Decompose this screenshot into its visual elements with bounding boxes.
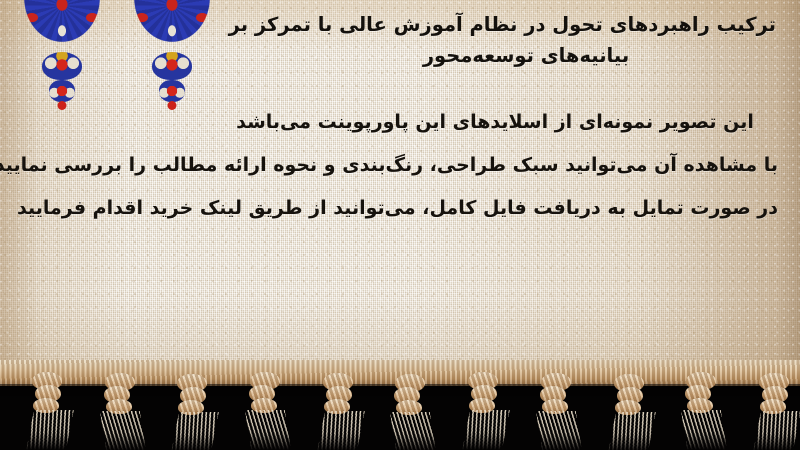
fringe-tassel [604,374,656,450]
fringe-tassel [676,372,728,448]
tassel-strands [171,412,219,450]
tassel-strands [536,411,582,450]
fringe-tassel [167,374,219,450]
fringe-tassel [313,373,365,449]
tassel-strands [462,410,510,450]
fringe-tassel [240,372,292,448]
fringe-tassel [531,373,583,449]
slide-canvas: ترکیب راهبردهای تحول در نظام آموزش عالی … [0,0,800,450]
title-line-1: ترکیب راهبردهای تحول در نظام آموزش عالی … [216,9,776,40]
tassel-strands [608,412,656,450]
slide-body: این تصویر نمونه‌ای از اسلایدهای این پاور… [22,101,778,230]
slide-text-layer: ترکیب راهبردهای تحول در نظام آموزش عالی … [0,0,800,378]
tassel-strands [26,410,74,450]
tassel-strands [390,412,436,450]
title-line-2: بیانیه‌های توسعه‌محور [216,40,776,71]
tassel-strands [753,411,800,450]
carpet-knotted-fringe [0,360,800,450]
tassel-strands [245,410,291,450]
fringe-tassel [385,374,437,450]
body-line-1: این تصویر نمونه‌ای از اسلایدهای این پاور… [22,101,778,144]
body-line-2: با مشاهده آن می‌توانید سبک طراحی، رنگ‌بن… [22,144,778,187]
tassel-strands [317,411,365,450]
fringe-tassel [749,373,800,449]
fringe-tassel [95,373,147,449]
slide-title: ترکیب راهبردهای تحول در نظام آموزش عالی … [216,9,776,71]
fringe-tassel [22,372,74,448]
tassel-strands [681,410,727,450]
fringe-tassel [458,372,510,448]
body-line-3: در صورت تمایل به دریافت فایل کامل، می‌تو… [22,187,778,230]
tassel-strands [100,411,146,450]
